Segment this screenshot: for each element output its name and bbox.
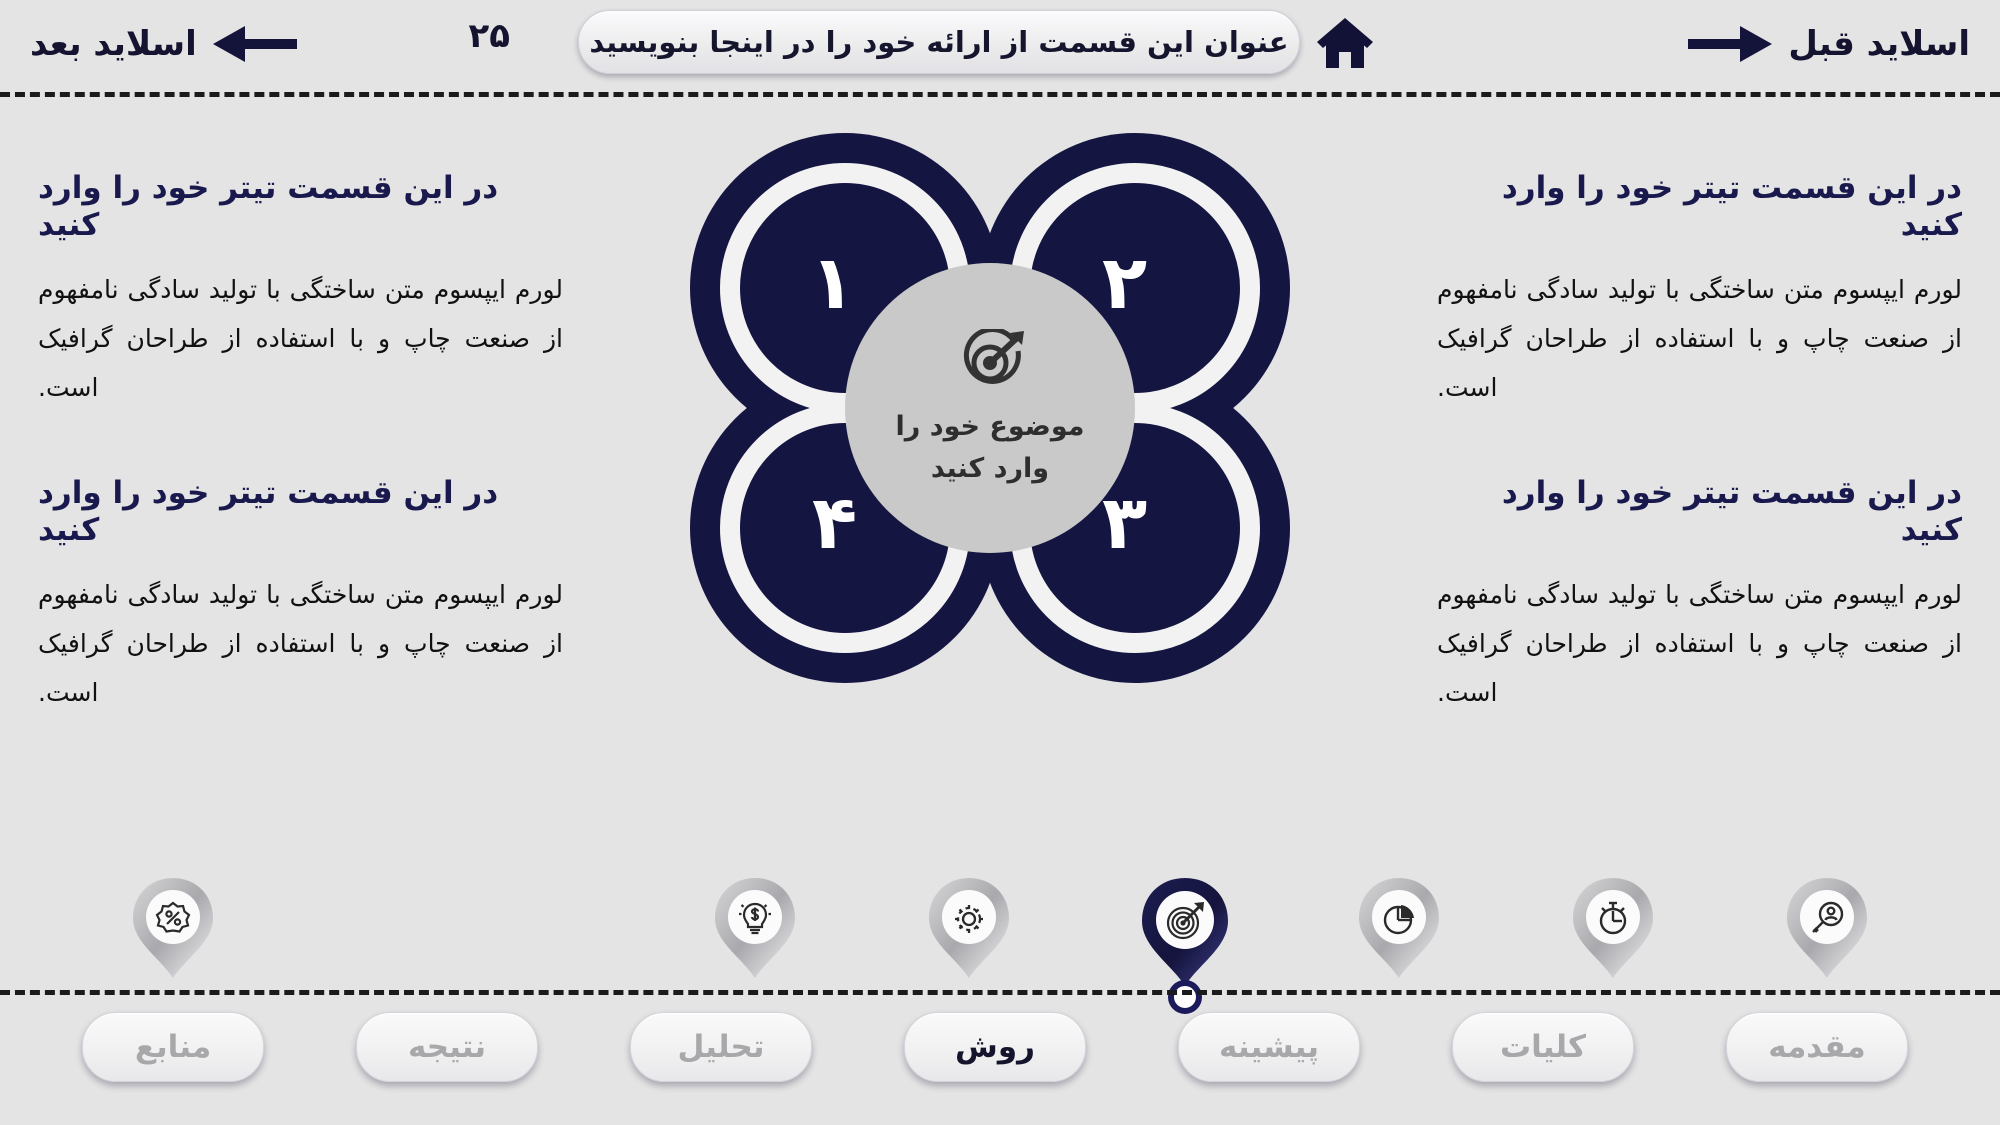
tab-pishineh[interactable]: پیشینه [1178,1012,1360,1082]
pin-lightbulb-dollar[interactable] [712,876,798,980]
tab-ravesh[interactable]: روش [904,1012,1086,1082]
active-pin-dot [1168,980,1202,1014]
tab-natijeh[interactable]: نتیجه [356,1012,538,1082]
block-heading: در این قسمت تیتر خود را وارد کنید [38,170,563,244]
slide-canvas: اسلاید قبل عنوان این قسمت از ارائه خود ر… [0,0,2000,1125]
pin-target-active[interactable] [1138,876,1232,988]
center-label-line2: وارد کنید [931,451,1049,487]
block-body: لورم ایپسوم متن ساختگی با تولید سادگی نا… [38,266,563,412]
center-label-line1: موضوع خود را [896,409,1085,445]
tab-label: روش [955,1029,1035,1065]
tab-tahlil[interactable]: تحلیل [630,1012,812,1082]
slide-header: اسلاید قبل عنوان این قسمت از ارائه خود ر… [0,0,2000,92]
block-body: لورم ایپسوم متن ساختگی با تولید سادگی نا… [1437,571,1962,717]
content-block: در این قسمت تیتر خود را وارد کنید لورم ا… [1437,170,1962,413]
content-column-left: در این قسمت تیتر خود را وارد کنید لورم ا… [38,170,563,757]
tab-label: تحلیل [678,1029,765,1065]
pin-stopwatch[interactable] [1570,876,1656,980]
target-icon [954,329,1026,395]
tab-label: منابع [135,1029,211,1065]
tab-label: کلیات [1500,1029,1586,1065]
tab-moghadameh[interactable]: مقدمه [1726,1012,1908,1082]
divider-top [0,92,2000,97]
arrow-left-icon [211,22,299,66]
next-slide-label: اسلاید بعد [30,27,197,61]
pin-percent-badge[interactable] [130,876,216,980]
tab-label: مقدمه [1768,1029,1865,1065]
stopwatch-icon [1570,890,1656,946]
content-block: در این قسمت تیتر خود را وارد کنید لورم ا… [38,170,563,413]
home-button[interactable] [1310,14,1380,76]
tab-manabe[interactable]: منابع [82,1012,264,1082]
block-heading: در این قسمت تیتر خود را وارد کنید [1437,475,1962,549]
tab-label: پیشینه [1219,1029,1319,1065]
tab-label: نتیجه [408,1029,486,1065]
gear-icon [926,890,1012,946]
arrow-right-icon [1686,22,1774,66]
home-icon [1315,16,1375,74]
pie-chart-icon [1356,890,1442,946]
pin-search-person[interactable] [1784,876,1870,980]
pin-gear[interactable] [926,876,1012,980]
four-petal-diagram: ۱ ۲ ۳ ۴ موضوع خود را وارد کنید [640,128,1340,688]
target-icon [1138,892,1232,950]
page-number: ۲۵ [468,16,510,56]
divider-bottom [0,990,2000,995]
content-block: در این قسمت تیتر خود را وارد کنید لورم ا… [1437,475,1962,718]
block-heading: در این قسمت تیتر خود را وارد کنید [1437,170,1962,244]
tab-bar: مقدمه کلیات پیشینه روش تحلیل نتیجه منابع [0,1012,2000,1112]
block-body: لورم ایپسوم متن ساختگی با تولید سادگی نا… [38,571,563,717]
prev-slide-label: اسلاید قبل [1788,27,1970,61]
content-column-right: در این قسمت تیتر خود را وارد کنید لورم ا… [1437,170,1962,757]
slide-title-text: عنوان این قسمت از ارائه خود را در اینجا … [589,25,1288,59]
pin-navigation-row [0,876,2000,986]
block-body: لورم ایپسوم متن ساختگی با تولید سادگی نا… [1437,266,1962,412]
prev-slide-button[interactable]: اسلاید قبل [1686,14,1970,74]
tab-kolliyat[interactable]: کلیات [1452,1012,1634,1082]
lightbulb-dollar-icon [712,890,798,946]
search-person-icon [1784,890,1870,946]
slide-title-field[interactable]: عنوان این قسمت از ارائه خود را در اینجا … [578,10,1300,74]
block-heading: در این قسمت تیتر خود را وارد کنید [38,475,563,549]
pin-pie-chart[interactable] [1356,876,1442,980]
content-block: در این قسمت تیتر خود را وارد کنید لورم ا… [38,475,563,718]
next-slide-button[interactable]: اسلاید بعد [30,14,299,74]
diagram-center[interactable]: موضوع خود را وارد کنید [845,263,1135,553]
percent-badge-icon [130,890,216,946]
